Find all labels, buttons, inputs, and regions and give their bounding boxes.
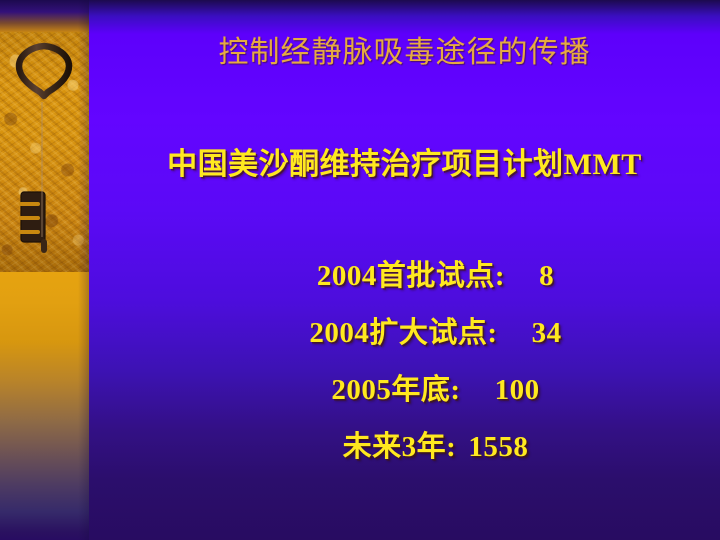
stat-value: 100 [495,374,540,406]
slide-title: 控制经静脉吸毒途径的传播 [89,36,720,70]
stat-value: 34 [532,317,562,349]
stat-value: 8 [539,260,554,292]
key-icon [0,32,89,274]
slide-body: 中国美沙酮维持治疗项目计划MMT 2004首批试点:8 2004扩大试点:34 … [89,139,720,419]
stat-row-first-pilot: 2004首批试点:8 [89,191,720,248]
program-heading: 中国美沙酮维持治疗项目计划MMT [89,139,720,191]
stat-label: 2005年底: [331,374,460,406]
stat-label: 2004首批试点: [317,260,505,292]
gold-accent-band [0,272,89,540]
stat-label: 2004扩大试点: [309,317,497,349]
slide-decoration-sidebar [0,0,89,540]
stat-value: 1558 [468,431,528,463]
sidebar-top-fade [0,0,89,34]
stat-label: 未来3年: [343,431,457,463]
presentation-slide: 控制经静脉吸毒途径的传播 中国美沙酮维持治疗项目计划MMT 2004首批试点:8… [0,0,720,540]
band-edge-shadow [78,0,89,540]
slide-content: 控制经静脉吸毒途径的传播 中国美沙酮维持治疗项目计划MMT 2004首批试点:8… [89,0,720,540]
